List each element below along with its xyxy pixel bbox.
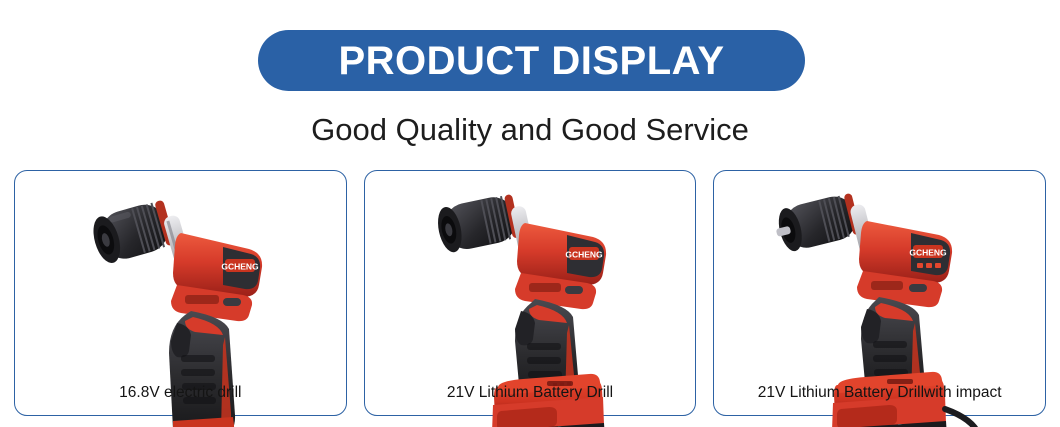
product-image: GCHENG <box>15 175 346 375</box>
cordless-drill-icon: GCHENG <box>73 177 288 375</box>
page-title-pill: PRODUCT DISPLAY <box>258 30 805 91</box>
product-image: GCHENG <box>714 175 1045 375</box>
product-card[interactable]: GCHENG <box>713 170 1046 416</box>
product-caption: 21V Lithium Battery Drill <box>359 384 702 403</box>
product-card-list: GCHENG <box>14 170 1046 416</box>
product-card[interactable]: GCHENG <box>14 170 347 416</box>
brand-label: GCHENG <box>221 262 259 272</box>
page-title: PRODUCT DISPLAY <box>338 41 724 81</box>
product-image: GCHENG <box>365 175 696 375</box>
product-display-banner: PRODUCT DISPLAY Good Quality and Good Se… <box>0 0 1060 427</box>
cordless-drill-icon: GCHENG <box>767 173 992 375</box>
page-subtitle: Good Quality and Good Service <box>0 109 1060 151</box>
product-card[interactable]: GCHENG <box>364 170 697 416</box>
product-caption: 16.8V electric drill <box>9 384 352 403</box>
brand-label: GCHENG <box>910 248 948 258</box>
brand-label: GCHENG <box>565 250 603 260</box>
cordless-drill-icon: GCHENG <box>423 173 638 375</box>
product-caption: 21V Lithium Battery Drillwith impact <box>708 384 1051 403</box>
